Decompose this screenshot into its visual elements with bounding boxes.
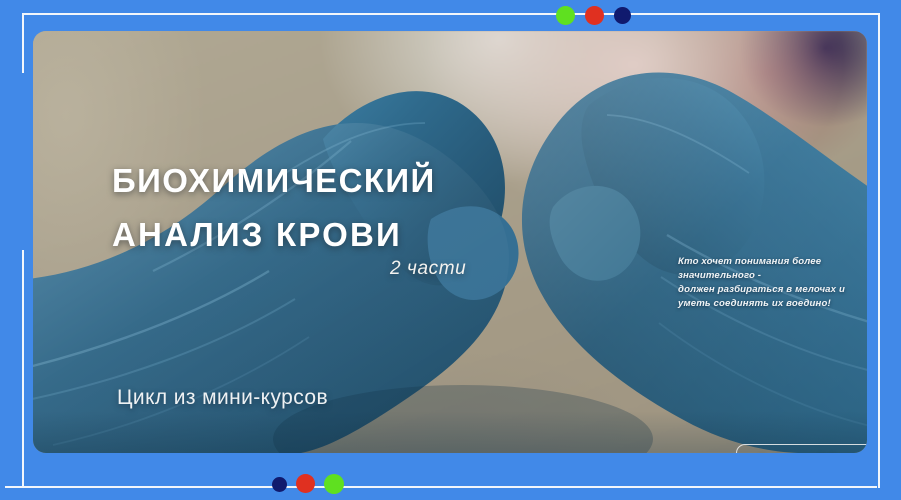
quote-line-1: Кто хочет понимания более: [678, 255, 867, 269]
top-navy-dot: [614, 7, 631, 24]
frame-line-bottom: [5, 486, 877, 488]
top-green-dot: [556, 6, 575, 25]
banner-quote: Кто хочет понимания более значительного …: [678, 255, 867, 311]
promo-banner: БИОХИМИЧЕСКИЙ АНАЛИЗ КРОВИ 2 части Кто х…: [0, 0, 901, 500]
banner-tagline: Цикл из мини-курсов: [117, 386, 328, 410]
bottom-navy-dot: [272, 477, 287, 492]
quote-line-4: уметь соединять их воедино!: [678, 297, 867, 311]
quote-line-3: должен разбираться в мелочах и: [678, 283, 867, 297]
logo-badge: doktor_blum: [736, 444, 867, 453]
frame-line-top: [22, 13, 880, 15]
photo-card: БИОХИМИЧЕСКИЙ АНАЛИЗ КРОВИ 2 части Кто х…: [33, 31, 867, 453]
top-red-dot: [585, 6, 604, 25]
title-line-2: АНАЛИЗ КРОВИ: [112, 218, 542, 251]
frame-line-left-lower: [22, 250, 24, 488]
frame-line-right: [878, 13, 880, 488]
banner-title: БИОХИМИЧЕСКИЙ АНАЛИЗ КРОВИ: [112, 164, 542, 251]
banner-subtitle: 2 части: [390, 258, 466, 280]
quote-line-2: значительного -: [678, 269, 867, 283]
title-line-1: БИОХИМИЧЕСКИЙ: [112, 164, 542, 197]
frame-line-left-upper: [22, 13, 24, 73]
bottom-green-dot: [324, 474, 344, 494]
bottom-red-dot: [296, 474, 315, 493]
